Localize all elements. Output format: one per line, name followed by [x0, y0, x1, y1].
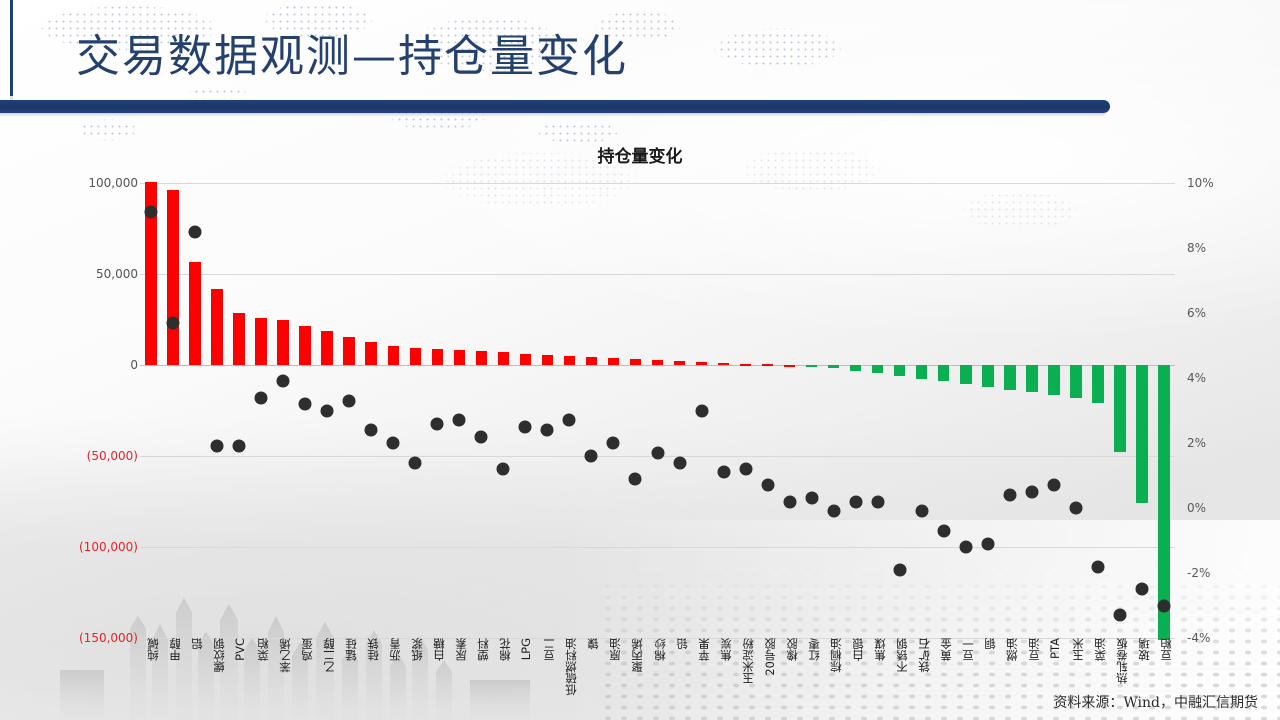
x-axis-label: 红枣	[806, 638, 822, 661]
chart-bar	[1004, 365, 1015, 390]
y-axis-right-tick: 0%	[1187, 501, 1206, 515]
x-axis-label: LPG	[519, 638, 533, 660]
chart-scatter-point	[827, 505, 840, 518]
chart-bar	[828, 365, 839, 368]
chart-bar	[718, 363, 729, 365]
y-axis-left-tick: 100,000	[88, 176, 138, 190]
chart-scatter-point	[849, 495, 862, 508]
chart-bar	[586, 357, 597, 365]
chart-scatter-point	[189, 225, 202, 238]
x-axis-label: 玉米	[1070, 638, 1086, 661]
chart-scatter-point	[739, 463, 752, 476]
y-axis-left-tick: (100,000)	[79, 540, 138, 554]
chart-scatter-point	[981, 537, 994, 550]
chart-scatter-point	[915, 505, 928, 518]
chart-scatter-point	[321, 404, 334, 417]
header-left-accent-line	[10, 0, 13, 104]
x-axis-label: 锰硅	[343, 638, 359, 661]
chart-bar	[696, 362, 707, 365]
y-axis-right-tick: 6%	[1187, 306, 1206, 320]
y-axis-left-tick: (150,000)	[79, 631, 138, 645]
chart-scatter-point	[761, 479, 774, 492]
x-axis-label: 焦炭	[718, 638, 734, 661]
chart-scatter-point	[409, 456, 422, 469]
chart-bar	[938, 365, 949, 381]
chart-bar	[233, 313, 244, 365]
y-axis-right-tick: 4%	[1187, 371, 1206, 385]
y-axis-right-tick: -2%	[1187, 566, 1210, 580]
chart-scatter-point	[1091, 560, 1104, 573]
chart-scatter-point	[629, 472, 642, 485]
header-accent-bar-shadow	[0, 113, 1105, 117]
chart-bar	[564, 356, 575, 365]
chart-bar	[960, 365, 971, 384]
chart-bar	[982, 365, 993, 387]
chart-scatter-point	[937, 524, 950, 537]
chart-bar	[894, 365, 905, 376]
chart-bar	[608, 358, 619, 365]
chart-scatter-point	[519, 420, 532, 433]
x-axis-label: PVC	[233, 638, 247, 661]
y-axis-right-tick: -4%	[1187, 631, 1210, 645]
chart-scatter-point	[233, 440, 246, 453]
chart-scatter-point	[585, 450, 598, 463]
chart-scatter-point	[365, 424, 378, 437]
chart-scatter-point	[871, 495, 884, 508]
chart-bar	[321, 331, 332, 365]
chart-bar	[498, 352, 509, 365]
x-axis-category-labels: 纯碱甲醇铝螺纹钢PVC菜粕苯乙烯鸡蛋乙二醇锰硅硅铁沥青纸浆白糖尿素塑料棉花LPG…	[140, 638, 1175, 720]
gridline	[140, 547, 1175, 548]
chart-bar	[1070, 365, 1081, 398]
chart-bar	[784, 365, 795, 367]
chart-scatter-point	[783, 495, 796, 508]
x-axis-label: 燃油	[1004, 638, 1020, 661]
chart-scatter-point	[211, 440, 224, 453]
chart-bar	[630, 359, 641, 365]
chart-scatter-point	[277, 375, 290, 388]
chart-bar	[652, 360, 663, 365]
x-axis-label: 玉米淀粉	[740, 638, 756, 684]
chart-bar	[520, 354, 531, 365]
x-axis-label: 铅	[674, 638, 690, 650]
chart-scatter-point	[343, 394, 356, 407]
x-axis-label: 铜	[982, 638, 998, 650]
x-axis-label: 白银	[850, 638, 866, 661]
x-axis-label: 尿素	[453, 638, 469, 661]
chart-bar	[454, 350, 465, 365]
y-axis-right-tick: 8%	[1187, 241, 1206, 255]
x-axis-label: 玻璃	[1136, 638, 1152, 661]
x-axis-label: 硅铁	[365, 638, 381, 661]
chart-bar	[1026, 365, 1037, 392]
chart-bar	[343, 337, 354, 365]
chart-scatter-point	[1025, 485, 1038, 498]
chart-scatter-point	[695, 404, 708, 417]
gridline	[140, 183, 1175, 184]
x-axis-label: 鸡蛋	[299, 638, 315, 661]
chart-bar	[1048, 365, 1059, 395]
chart-scatter-point	[1157, 599, 1170, 612]
chart-bar	[542, 355, 553, 365]
x-axis-label: 纸浆	[409, 638, 425, 661]
x-axis-label: 豆粕	[1158, 638, 1174, 661]
chart-scatter-point	[1135, 583, 1148, 596]
x-axis-label: 低硫燃料油	[563, 638, 579, 696]
x-axis-label: 菜粕	[255, 638, 271, 661]
chart-scatter-point	[717, 466, 730, 479]
chart-bar	[674, 361, 685, 365]
x-axis-label: 不锈钢	[894, 638, 910, 673]
x-axis-label: 铝	[189, 638, 205, 650]
y-axis-left-tick: 0	[130, 358, 138, 372]
chart-bar	[1114, 365, 1125, 452]
x-axis-label: 原油	[607, 638, 623, 661]
chart-bar	[277, 320, 288, 366]
x-axis-label: 棉纱	[652, 638, 668, 661]
chart-bar	[388, 346, 399, 365]
chart-title: 持仓量变化	[0, 142, 1280, 167]
chart-scatter-point	[1003, 489, 1016, 502]
chart-scatter-point	[431, 417, 444, 430]
chart-scatter-point	[299, 398, 312, 411]
x-axis-label: PTA	[1048, 638, 1062, 659]
x-axis-label: 镍	[585, 638, 601, 650]
chart-scatter-point	[1113, 609, 1126, 622]
x-axis-label: 黄金	[938, 638, 954, 661]
chart-bar	[476, 351, 487, 365]
chart-scatter-point	[959, 541, 972, 554]
x-axis-label: 焦煤	[872, 638, 888, 661]
chart-scatter-point	[893, 563, 906, 576]
x-axis-label: 甲醇	[167, 638, 183, 661]
chart-bar	[211, 289, 222, 365]
chart-bar	[806, 365, 817, 367]
chart-scatter-point	[541, 424, 554, 437]
x-axis-label: 聚丙烯	[629, 638, 645, 673]
x-axis-label: 热轧卷板	[1114, 638, 1130, 684]
chart-scatter-point	[805, 492, 818, 505]
chart-scatter-point	[475, 430, 488, 443]
chart-scatter-point	[453, 414, 466, 427]
x-axis-label: 苯乙烯	[277, 638, 293, 673]
chart-bar	[299, 326, 310, 365]
chart-bar	[432, 349, 443, 365]
x-axis-label: 螺纹钢	[211, 638, 227, 673]
x-axis-label: 20号胶	[762, 638, 778, 676]
y-axis-right-tick: 2%	[1187, 436, 1206, 450]
chart-container: 持仓量变化 100,00050,0000(50,000)(100,000)(15…	[0, 128, 1280, 688]
x-axis-label: 豆二	[541, 638, 557, 661]
chart-scatter-point	[673, 456, 686, 469]
chart-bar	[410, 348, 421, 365]
x-axis-label: 塑料	[475, 638, 491, 661]
y-axis-right-tick: 10%	[1187, 176, 1214, 190]
x-axis-label: 豆油	[1026, 638, 1042, 661]
chart-scatter-point	[497, 463, 510, 476]
chart-scatter-point	[607, 437, 620, 450]
gridline	[140, 274, 1175, 275]
zero-axis-line	[140, 365, 1175, 366]
chart-scatter-point	[651, 446, 664, 459]
chart-plot-area: 100,00050,0000(50,000)(100,000)(150,000)…	[140, 183, 1175, 638]
chart-bar	[850, 365, 861, 371]
x-axis-label: 乙二醇	[321, 638, 337, 673]
x-axis-label: 白糖	[431, 638, 447, 661]
x-axis-label: 纯碱	[145, 638, 161, 661]
source-note: 资料来源：Wind，中融汇信期货	[1053, 692, 1258, 712]
y-axis-left-tick: 50,000	[96, 267, 138, 281]
chart-scatter-point	[1047, 479, 1060, 492]
x-axis-label: 豆一	[960, 638, 976, 661]
chart-scatter-point	[145, 206, 158, 219]
chart-bar	[872, 365, 883, 373]
chart-bar	[255, 318, 266, 365]
x-axis-label: 沥青	[387, 638, 403, 661]
chart-bar	[916, 365, 927, 379]
chart-bar	[1092, 365, 1103, 403]
chart-scatter-point	[1069, 502, 1082, 515]
chart-bar	[1136, 365, 1147, 503]
x-axis-label: 苹果	[696, 638, 712, 661]
chart-scatter-point	[167, 316, 180, 329]
chart-bar	[762, 364, 773, 366]
chart-scatter-point	[563, 414, 576, 427]
y-axis-left-tick: (50,000)	[87, 449, 138, 463]
chart-bar	[740, 364, 751, 366]
x-axis-label: 铁矿石	[916, 638, 932, 673]
chart-bar	[189, 262, 200, 365]
x-axis-label: 棉花	[497, 638, 513, 661]
chart-bar	[167, 190, 178, 365]
x-axis-label: 橡胶	[784, 638, 800, 661]
x-axis-label: 菜油	[1092, 638, 1108, 661]
page-title: 交易数据观测—持仓量变化	[76, 30, 628, 84]
chart-bar	[365, 342, 376, 365]
chart-scatter-point	[255, 391, 268, 404]
slide: 交易数据观测—持仓量变化 持仓量变化 100,00050,0000(50,000…	[0, 0, 1280, 720]
header-accent-bar	[0, 100, 1110, 113]
x-axis-label: 棕榈油	[828, 638, 844, 673]
chart-scatter-point	[387, 437, 400, 450]
